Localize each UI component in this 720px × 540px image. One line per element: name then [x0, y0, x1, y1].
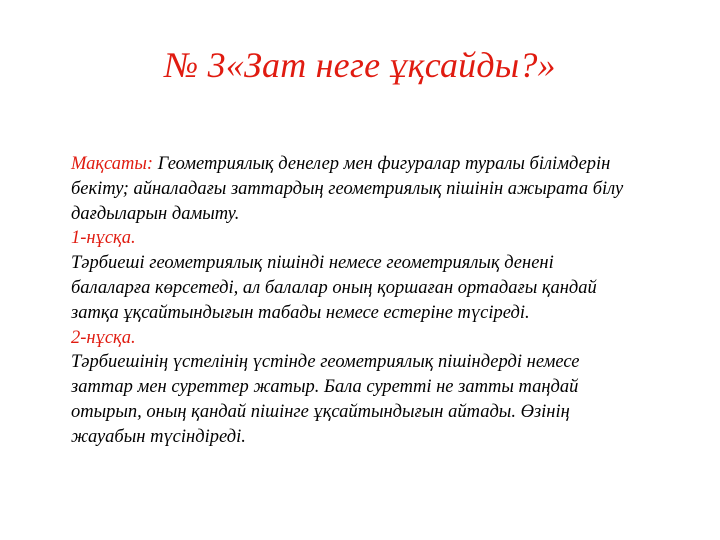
- text-line-variant-1-2: балаларға көрсетеді, ал балалар оның қор…: [71, 276, 671, 301]
- slide-canvas: № 3«Зат неге ұқсайды?» Мақсаты: Геометри…: [0, 0, 720, 540]
- text-line-goal-2: бекіту; айналадағы заттардың геометриялы…: [71, 177, 671, 202]
- text-line-variant-2-1: Тәрбиешінің үстелінің үстінде геометриял…: [71, 350, 671, 375]
- text-line-variant-2-2: заттар мен суреттер жатыр. Бала суретті …: [71, 375, 671, 400]
- text-line-variant-1-3: затқа ұқсайтындығын табады немесе естері…: [71, 301, 671, 326]
- text-line-goal-1: Мақсаты: Геометриялық денелер мен фигура…: [71, 152, 671, 177]
- page-title: № 3«Зат неге ұқсайды?»: [0, 44, 720, 86]
- text-line-variant-2-4: жауабын түсіндіреді.: [71, 425, 671, 450]
- text-line-variant-1-1: Тәрбиеші геометриялық пішінді немесе гео…: [71, 251, 671, 276]
- text-line-goal-3: дағдыларын дамыту.: [71, 202, 671, 227]
- goal-text: Геометриялық денелер мен фигуралар турал…: [153, 154, 610, 174]
- text-line-variant-2-3: отырып, оның қандай пішінге ұқсайтындығы…: [71, 400, 671, 425]
- slide-body-text: Мақсаты: Геометриялық денелер мен фигура…: [71, 152, 671, 450]
- variant-2-heading: 2-нұсқа.: [71, 326, 671, 351]
- variant-1-heading: 1-нұсқа.: [71, 226, 671, 251]
- goal-label: Мақсаты:: [71, 154, 153, 174]
